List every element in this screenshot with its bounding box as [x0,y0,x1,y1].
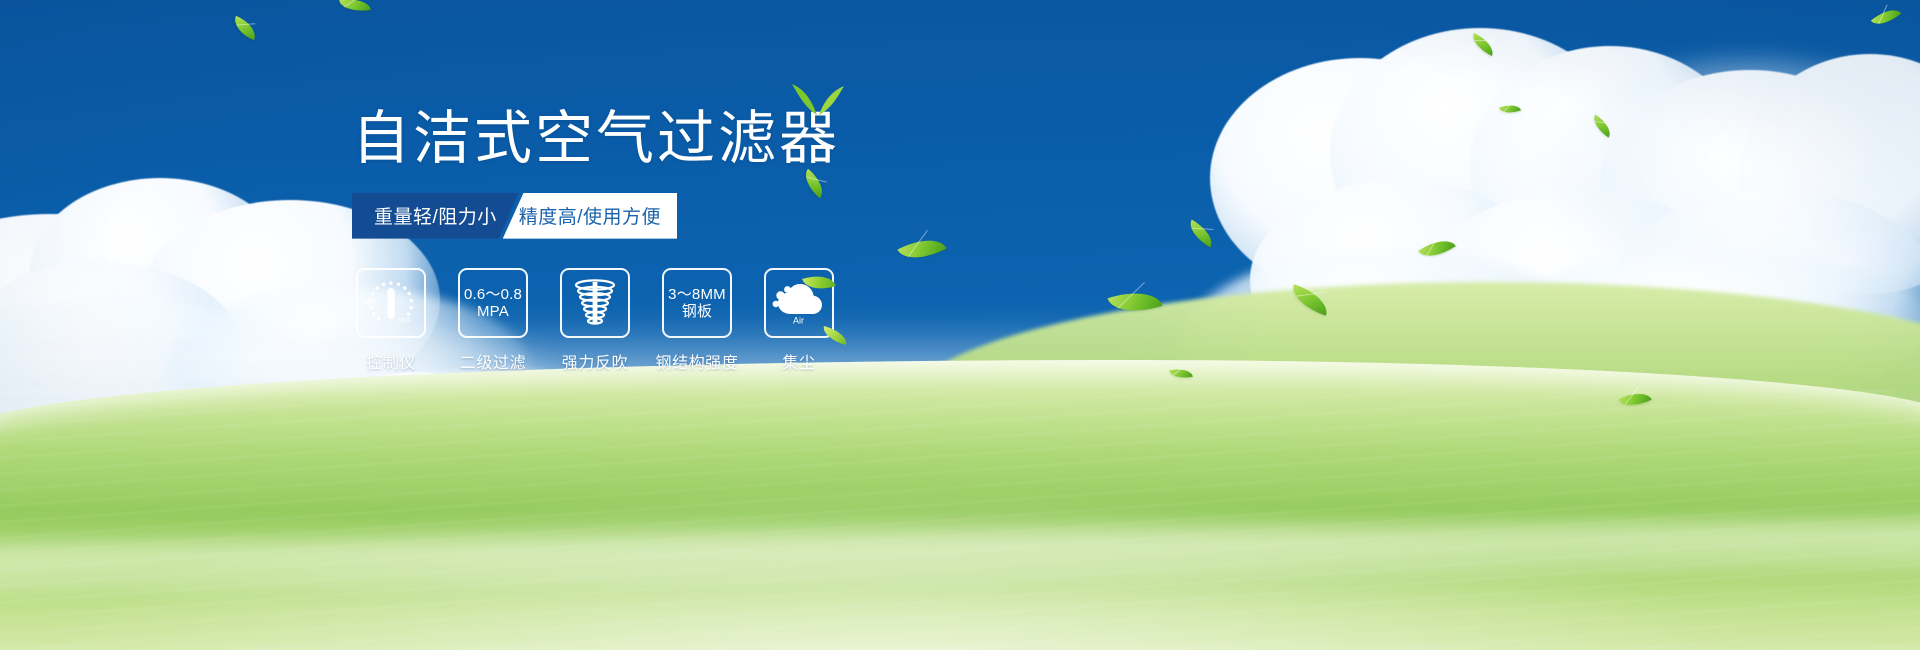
feature-icon-row: NO OFF 控制仪 0.6～0.8 MPA 二级过滤 [355,268,835,373]
feature-icon-box: 3～8MM 钢板 [662,268,732,338]
page-title: 自洁式空气过滤器 [352,108,840,171]
control-dial-icon: NO OFF [362,277,420,329]
feature-item-secondary-filtration[interactable]: 0.6～0.8 MPA 二级过滤 [457,268,529,373]
feature-item-control-instrument[interactable]: NO OFF 控制仪 [355,268,427,373]
tab-weight-resistance[interactable]: 重量轻/阻力小 [352,193,519,239]
feature-tabs: 重量轻/阻力小 精度高/使用方便 [352,193,677,239]
feature-label: 集尘 [782,349,815,373]
air-label: Air [793,316,804,326]
air-cloud-icon: Air [771,280,827,326]
banner-content: 自洁式空气过滤器 重量轻/阻力小 精度高/使用方便 [352,108,1112,239]
feature-icon-box: Air [764,268,834,338]
title-leaf-decoration-icon [790,82,846,116]
tab-label: 重量轻/阻力小 [374,202,497,229]
dial-on-label: NO [365,298,376,307]
feature-label: 强力反吹 [562,349,628,373]
tab-precision-convenience[interactable]: 精度高/使用方便 [503,193,677,239]
feature-icon-box: 0.6～0.8 MPA [458,268,528,338]
tab-label: 精度高/使用方便 [519,202,661,229]
pressure-text-icon: 0.6～0.8 MPA [464,286,522,321]
coil-filter-icon [571,278,619,328]
feature-label: 钢结构强度 [656,349,739,373]
feature-icon-box [560,268,630,338]
feature-item-dust-collection[interactable]: Air 集尘 [763,268,835,373]
title-row: 自洁式空气过滤器 [352,108,840,171]
feature-item-steel-strength[interactable]: 3～8MM 钢板 钢结构强度 [661,268,733,373]
steel-plate-text-icon: 3～8MM 钢板 [668,286,726,321]
feature-item-strong-backblow[interactable]: 强力反吹 [559,268,631,373]
product-banner: 自洁式空气过滤器 重量轻/阻力小 精度高/使用方便 [0,0,1920,650]
feature-label: 二级过滤 [460,349,526,373]
feature-icon-box: NO OFF [356,268,426,338]
dial-off-label: OFF [398,318,411,325]
feature-label: 控制仪 [366,349,416,373]
grass-glow [0,430,1920,650]
